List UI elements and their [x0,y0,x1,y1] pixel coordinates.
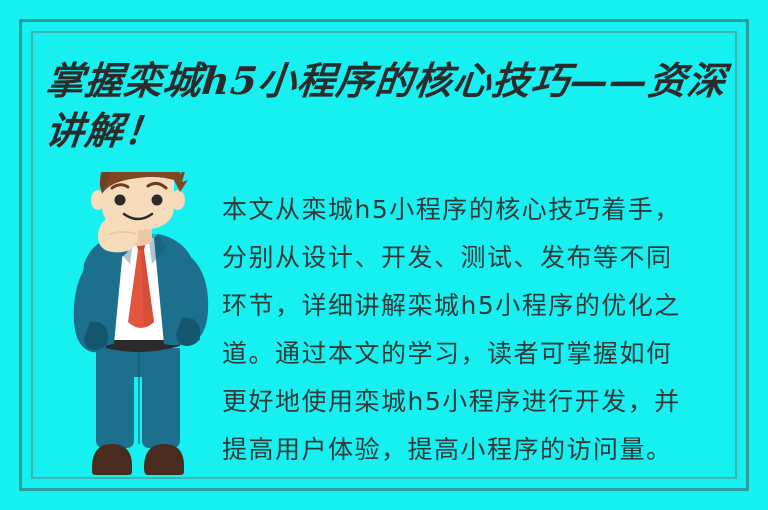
poster-canvas: 掌握栾城h5小程序的核心技巧——资深 讲解！ 本文从栾城h5小程序的核心技巧着手… [0,0,768,510]
article-summary: 本文从栾城h5小程序的核心技巧着手， 分别从设计、开发、测试、发布等不同 环节，… [222,186,742,474]
summary-line-4: 道。通过本文的学习，读者可掌握如何 [222,330,742,378]
summary-line-3: 环节，详细讲解栾城h5小程序的优化之 [222,282,742,330]
summary-line-2: 分别从设计、开发、测试、发布等不同 [222,234,742,282]
title-line-2: 讲解！ [43,106,748,156]
trousers-shape [96,348,180,448]
shoes-shape [92,444,184,475]
title-line-1: 掌握栾城h5小程序的核心技巧——资深 [43,56,748,106]
businessman-illustration [54,172,222,484]
summary-line-5: 更好地使用栾城h5小程序进行开发，并 [222,378,742,426]
summary-line-1: 本文从栾城h5小程序的核心技巧着手， [222,186,742,234]
page-title: 掌握栾城h5小程序的核心技巧——资深 讲解！ [46,56,746,156]
summary-line-6: 提高用户体验，提高小程序的访问量。 [222,426,742,474]
